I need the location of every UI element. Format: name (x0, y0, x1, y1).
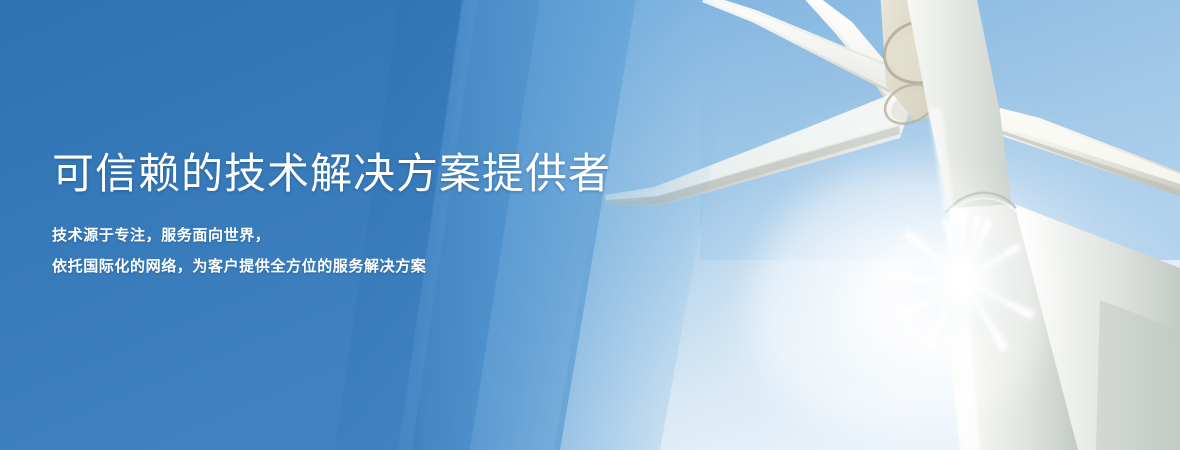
hero-banner: 可信赖的技术解决方案提供者 技术源于专注，服务面向世界， 依托国际化的网络，为客… (0, 0, 1180, 450)
hero-text-block: 可信赖的技术解决方案提供者 技术源于专注，服务面向世界， 依托国际化的网络，为客… (52, 148, 692, 282)
page-title: 可信赖的技术解决方案提供者 (52, 148, 692, 200)
subtitle-line-2: 依托国际化的网络，为客户提供全方位的服务解决方案 (52, 251, 692, 282)
hero-subtitle: 技术源于专注，服务面向世界， 依托国际化的网络，为客户提供全方位的服务解决方案 (52, 200, 692, 282)
subtitle-line-1: 技术源于专注，服务面向世界， (52, 220, 692, 251)
